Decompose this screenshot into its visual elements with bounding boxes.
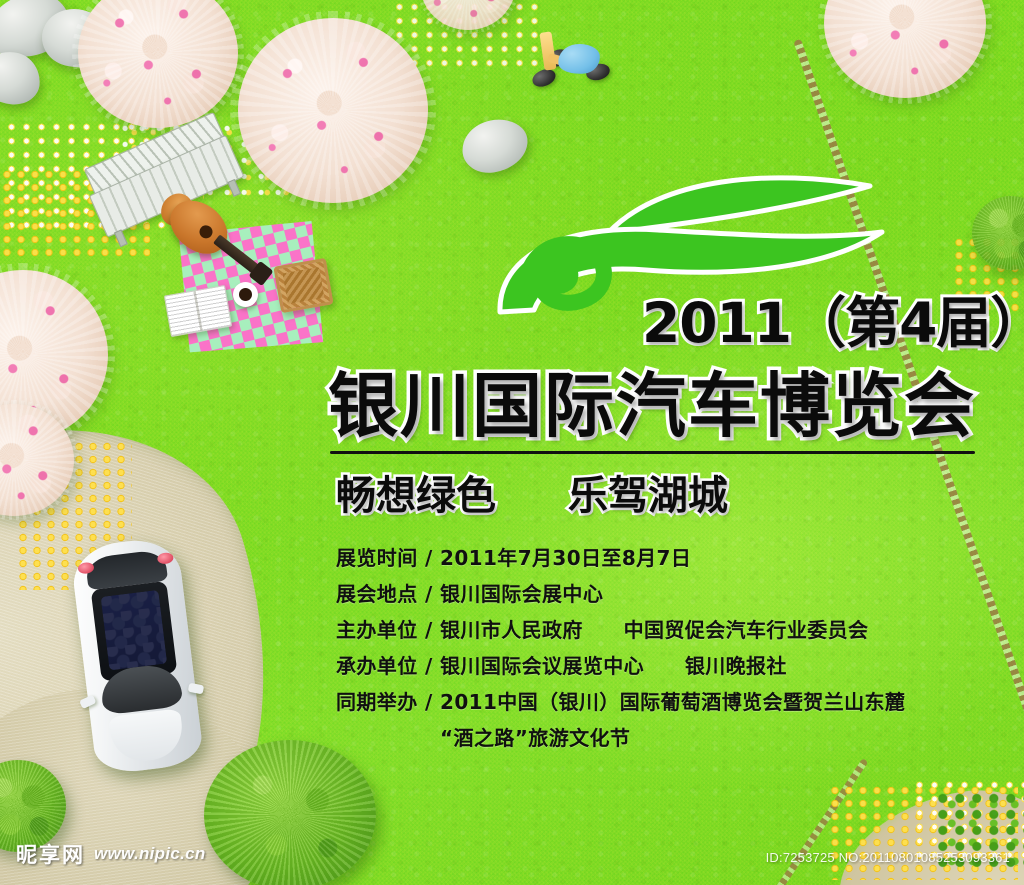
detail-line: 承办单位 / 银川国际会议展览中心 银川晚报社: [336, 648, 996, 684]
bench-leg: [114, 229, 128, 247]
bench-leg: [227, 179, 241, 197]
poster-canvas: 2011（第4届） 银川国际汽车博览会 畅想绿色 乐驾湖城 展览时间 / 201…: [0, 0, 1024, 885]
title-divider: [330, 451, 975, 454]
cherry-blossom-tree: [824, 0, 986, 98]
site-watermark: 昵享网 www.nipic.cn: [16, 839, 206, 869]
detail-line: “酒之路”旅游文化节: [336, 720, 996, 756]
green-tree: [204, 740, 376, 885]
toy-tricycle: [528, 36, 606, 88]
edition-year-heading: 2011（第4届）: [642, 278, 1024, 358]
detail-line: 同期举办 / 2011中国（银川）国际葡萄酒博览会暨贺兰山东麓: [336, 684, 996, 720]
car-sunroof: [101, 590, 168, 671]
cherry-blossom-tree: [0, 404, 74, 516]
slogan-right: 乐驾湖城: [568, 473, 728, 519]
site-url: www.nipic.cn: [94, 844, 206, 864]
site-name-cn: 昵享网: [16, 839, 85, 869]
page-title: 银川国际汽车博览会: [328, 350, 976, 451]
detail-line: 展览时间 / 2011年7月30日至8月7日: [336, 540, 996, 576]
cherry-blossom-tree: [78, 0, 238, 128]
cherry-blossom-tree: [238, 18, 428, 203]
tricycle-wheel: [530, 66, 558, 90]
coffee-cup: [233, 282, 258, 307]
green-tree: [972, 196, 1024, 270]
picnic-basket: [273, 258, 333, 313]
cherry-blossom-tree: [420, 0, 516, 30]
event-details-block: 展览时间 / 2011年7月30日至8月7日 展会地点 / 银川国际会展中心 主…: [336, 540, 996, 756]
acoustic-guitar: [160, 190, 237, 264]
detail-line: 主办单位 / 银川市人民政府 中国贸促会汽车行业委员会: [336, 612, 996, 648]
rock: [0, 49, 42, 106]
detail-line: 展会地点 / 银川国际会展中心: [336, 576, 996, 612]
image-id-watermark: ID:7253725 NO:20110801085253093361: [766, 850, 1010, 865]
tricycle-frame: [539, 31, 556, 70]
slogan-subtitle: 畅想绿色 乐驾湖城: [336, 463, 728, 521]
slogan-left: 畅想绿色: [336, 473, 496, 519]
sand-corner-bottom-right: [824, 776, 1024, 885]
